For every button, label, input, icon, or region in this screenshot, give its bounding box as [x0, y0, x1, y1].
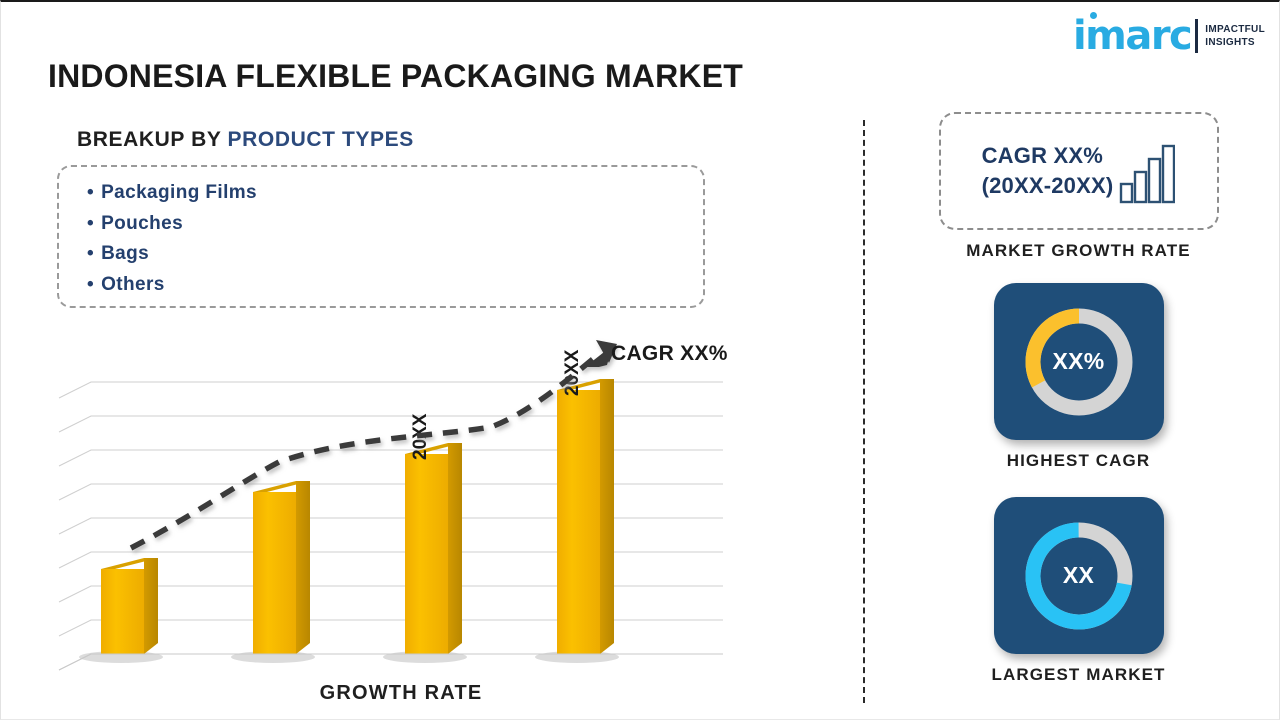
cagr-value: CAGR XX% (20XX-20XX): [982, 141, 1114, 201]
cagr-value-line1: CAGR XX%: [982, 141, 1114, 171]
subtitle-prefix: BREAKUP BY: [77, 128, 228, 151]
product-types-box: •Packaging Films •Pouches •Bags •Others: [57, 165, 705, 308]
list-item: •Pouches: [87, 209, 703, 240]
stats-panel: CAGR XX% (20XX-20XX) MARKET GROWTH RATE …: [906, 112, 1251, 685]
chart-bar-label: 20XX: [562, 349, 583, 396]
cagr-value-line2: (20XX-20XX): [982, 171, 1114, 201]
product-types-list: •Packaging Films •Pouches •Bags •Others: [59, 167, 703, 300]
market-growth-rate-box: CAGR XX% (20XX-20XX): [939, 112, 1219, 230]
growth-rate-chart: 20XX 20XX CAGR XX% GROWTH RATE: [51, 332, 751, 712]
vertical-divider: [863, 120, 865, 703]
list-item: •Others: [87, 270, 703, 301]
largest-market-card: XX: [994, 497, 1164, 654]
logo-divider: [1195, 19, 1198, 53]
subtitle-highlight: PRODUCT TYPES: [228, 128, 414, 151]
highest-cagr-caption: HIGHEST CAGR: [906, 451, 1251, 471]
bullet-icon: •: [87, 243, 94, 264]
logo-tagline: IMPACTFUL INSIGHTS: [1205, 23, 1265, 49]
page-title: INDONESIA FLEXIBLE PACKAGING MARKET: [48, 58, 743, 95]
list-item: •Bags: [87, 239, 703, 270]
chart-bar: 20XX: [383, 413, 467, 663]
chart-trendline: [131, 340, 617, 548]
chart-bar: [231, 481, 315, 663]
highest-cagr-card: XX%: [994, 283, 1164, 440]
list-item-label: Others: [101, 274, 165, 295]
logo-dot-icon: [1090, 12, 1097, 19]
logo-tagline-line2: INSIGHTS: [1205, 36, 1265, 49]
logo-tagline-line1: IMPACTFUL: [1205, 23, 1265, 36]
chart-gridlines: [59, 382, 723, 670]
list-item: •Packaging Films: [87, 178, 703, 209]
bullet-icon: •: [87, 274, 94, 295]
list-item-label: Pouches: [101, 213, 183, 234]
slide-canvas: imarc IMPACTFUL INSIGHTS INDONESIA FLEXI…: [0, 0, 1280, 720]
largest-market-caption: LARGEST MARKET: [906, 665, 1251, 685]
imarc-logo: imarc IMPACTFUL INSIGHTS: [1073, 14, 1265, 58]
section-subtitle: BREAKUP BY PRODUCT TYPES: [77, 128, 414, 152]
highest-cagr-value: XX%: [994, 348, 1164, 375]
bullet-icon: •: [87, 213, 94, 234]
chart-bar: [79, 558, 163, 663]
list-item-label: Packaging Films: [101, 182, 257, 203]
chart-cagr-label: CAGR XX%: [611, 342, 728, 366]
largest-market-value: XX: [994, 562, 1164, 589]
chart-xaxis-label: GROWTH RATE: [51, 682, 751, 705]
bar-chart-icon: [1119, 144, 1175, 209]
list-item-label: Bags: [101, 243, 149, 264]
chart-svg: 20XX 20XX: [51, 332, 751, 682]
market-growth-rate-caption: MARKET GROWTH RATE: [906, 241, 1251, 261]
logo-wordmark: imarc: [1073, 16, 1191, 56]
bullet-icon: •: [87, 182, 94, 203]
logo-wordmark-text: imarc: [1073, 13, 1191, 59]
